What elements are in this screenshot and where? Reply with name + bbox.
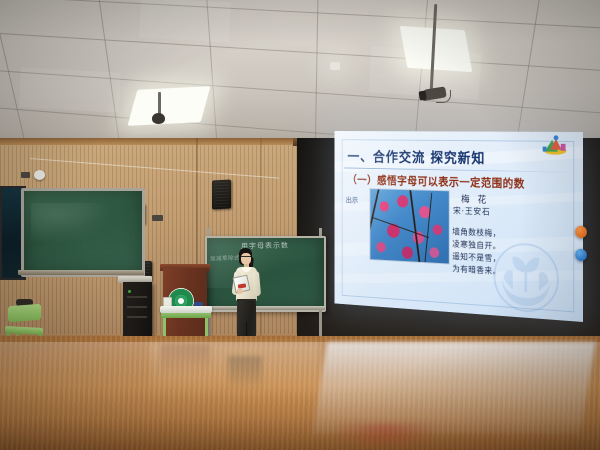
poem-title: 梅 花 [461, 192, 489, 206]
wall-chalkboard [21, 188, 145, 277]
ceiling-dome-speaker-icon [152, 113, 165, 124]
slide-decoration-icon [537, 134, 571, 158]
projector-lens-icon [418, 90, 426, 100]
ceiling [0, 0, 600, 152]
classroom-photo: 一、合作交流 探究新知 （一）感悟字母可以表示一定范围的数 出示 梅 花 宋·王… [0, 0, 600, 450]
orange-float-button[interactable] [575, 226, 587, 238]
wall-dome-speaker-icon [34, 170, 45, 180]
blackboard-chalk-tray [203, 306, 325, 310]
plum-blossom-image [370, 188, 450, 264]
chalkboard-ledge [18, 270, 144, 275]
wall-switch-icon [152, 215, 163, 221]
ceiling-light-glint [330, 62, 340, 70]
ceiling-tile-grid [0, 0, 600, 152]
student-chair-back[interactable] [8, 304, 41, 322]
av-equipment-cabinet[interactable] [123, 282, 152, 336]
presentation-slide[interactable]: 一、合作交流 探究新知 （一）感悟字母可以表示一定范围的数 出示 梅 花 宋·王… [335, 131, 583, 322]
glasses-icon [241, 256, 251, 260]
poem-author: 宋·王安石 [453, 205, 490, 218]
ceiling-panel-light-right [400, 26, 472, 72]
teacher-right-arm [252, 271, 261, 297]
teacher-hand [237, 288, 243, 294]
sprout-in-hands-watermark-icon [484, 239, 570, 317]
projection-screen[interactable]: 一、合作交流 探究新知 （一）感悟字母可以表示一定范围的数 出示 梅 花 宋·王… [335, 131, 583, 322]
wooden-floor [0, 336, 600, 450]
cabinet-power-led [128, 290, 131, 293]
student-desk-apron [161, 313, 211, 318]
wall-speaker-right [212, 180, 231, 210]
ceiling-panel-light-left [128, 86, 211, 126]
blue-float-button[interactable] [575, 249, 587, 262]
wall-camera-icon [21, 172, 30, 178]
slide-cue-label: 出示 [346, 195, 358, 205]
slide-title: 一、合作交流 探究新知 [347, 147, 485, 169]
mobile-blackboard[interactable]: 用字母表示数 加减乘除式 [205, 236, 326, 312]
desk-object-remote[interactable] [194, 302, 203, 306]
student-desk-top[interactable] [160, 306, 212, 313]
